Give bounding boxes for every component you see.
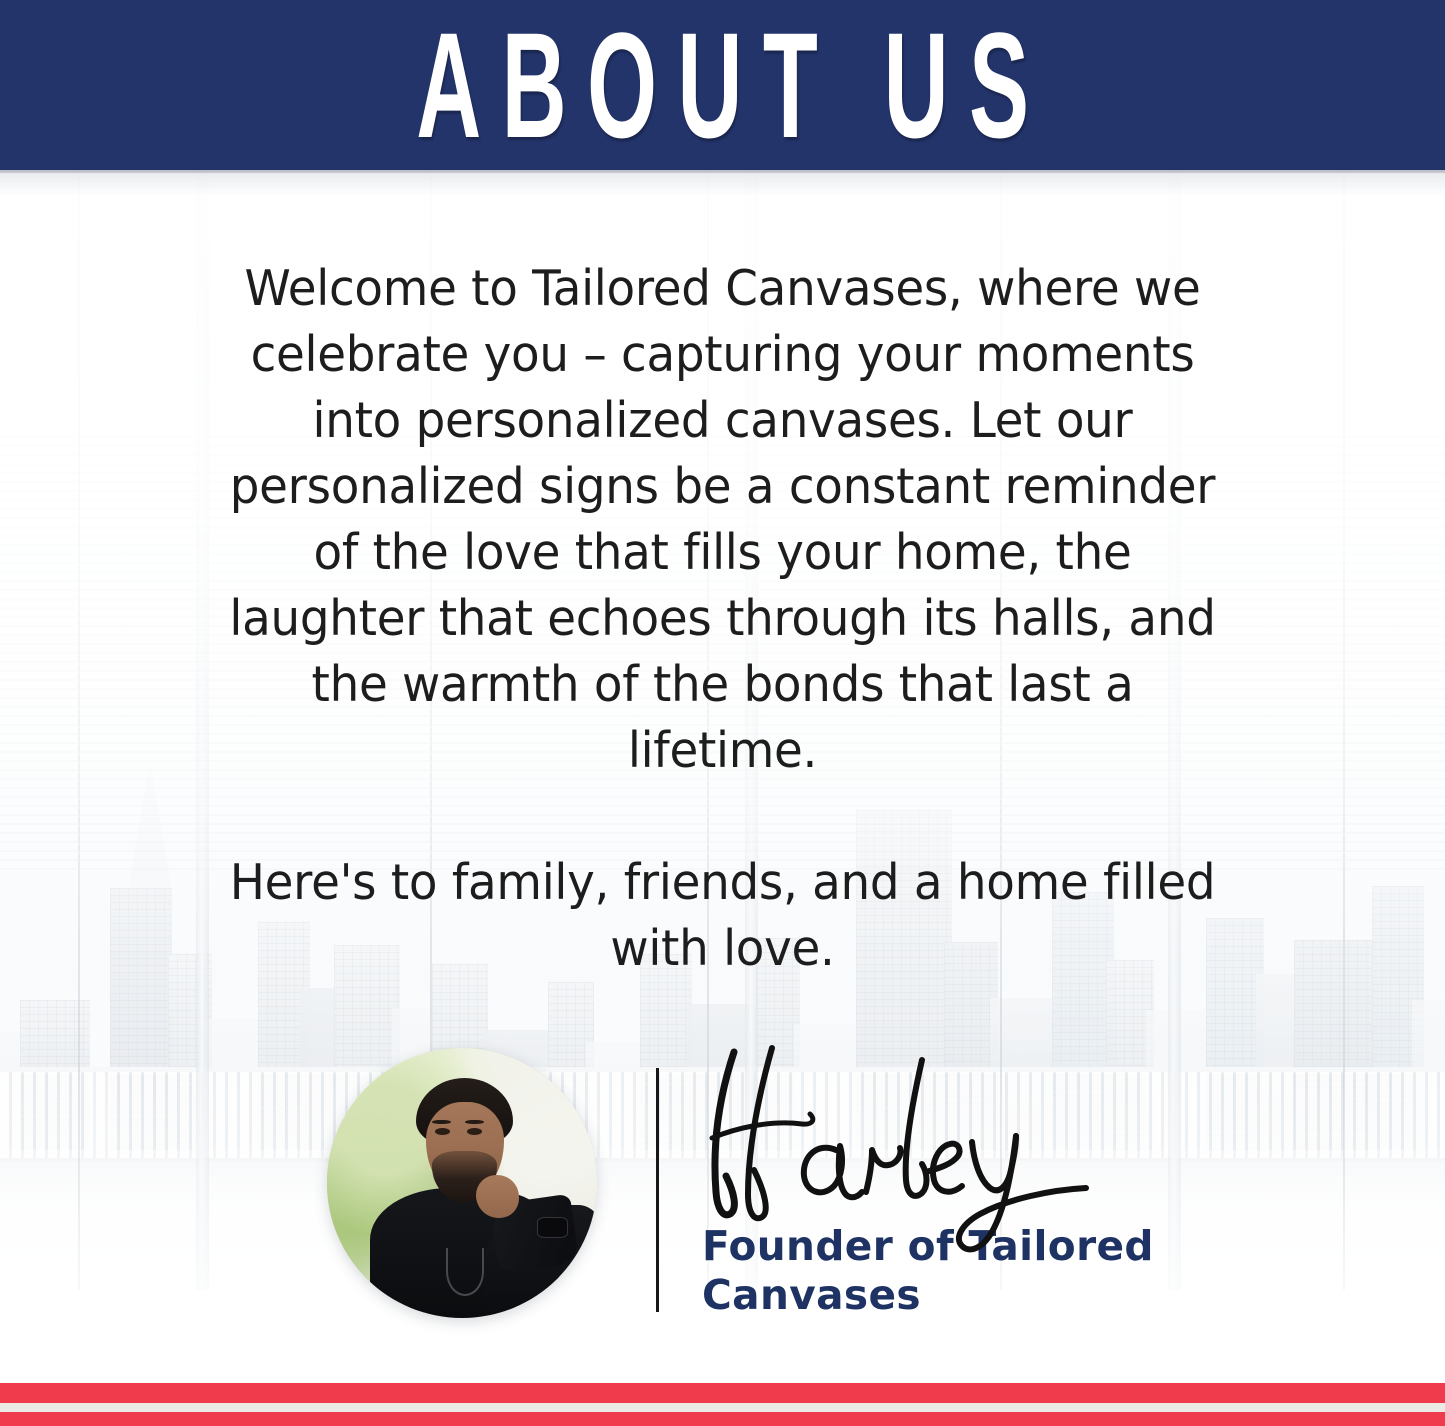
signature-divider [656,1068,659,1312]
role-line-2: Canvases [702,1271,1167,1320]
footer-bar-top [0,1383,1445,1403]
paragraph-1: Welcome to Tailored Canvases, where we c… [228,256,1216,784]
avatar [327,1048,597,1318]
about-us-page: ABOUT US Welcome to Tailored Canvases, w… [0,0,1445,1426]
signature-script [690,1042,1120,1242]
page-title: ABOUT US [396,10,1050,160]
footer-bar-gap [0,1403,1445,1412]
footer-bar-bottom [0,1412,1445,1426]
about-copy: Welcome to Tailored Canvases, where we c… [228,256,1216,982]
header-shadow [0,170,1445,196]
paragraph-2: Here's to family, friends, and a home fi… [228,850,1216,982]
avatar-photo [327,1048,597,1318]
header-banner: ABOUT US [0,0,1445,170]
paragraph-spacer [228,784,1216,850]
